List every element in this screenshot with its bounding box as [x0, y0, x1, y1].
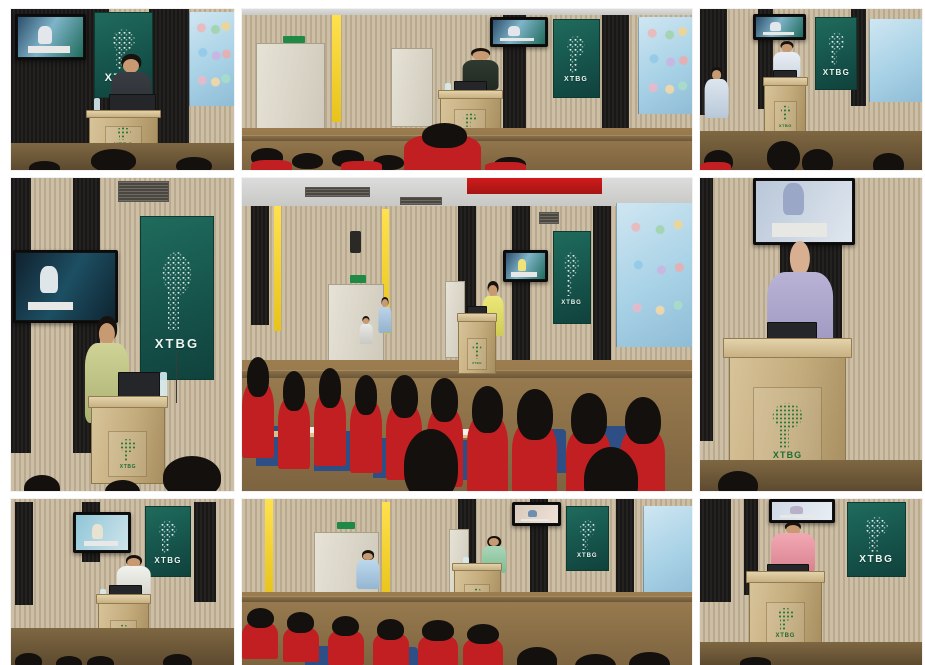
- xtbg-banner: XTBG: [847, 502, 907, 577]
- photo-cell-8[interactable]: XTBG: [242, 499, 692, 665]
- audience-head: [767, 141, 800, 170]
- audience-head: [24, 475, 60, 491]
- auditorium-scene-3: XTBG: [700, 9, 922, 170]
- podium-top: [746, 571, 826, 582]
- wall-monitor: [15, 14, 86, 60]
- auditorium-scene-2: XTBG: [242, 9, 692, 170]
- audience-head: [91, 149, 136, 170]
- collage-page: XTBG: [0, 0, 925, 665]
- audience-head: [422, 620, 454, 641]
- water-bottle: [160, 372, 167, 397]
- xtbg-tree-logo-icon: [561, 249, 582, 296]
- monitor-speaker-figure: [518, 259, 526, 271]
- banner-label: XTBG: [155, 337, 199, 350]
- projection-screen: [869, 19, 922, 103]
- audience-head: [292, 153, 324, 169]
- photo-cell-7[interactable]: XTBG: [11, 499, 234, 665]
- audience-row: [700, 128, 922, 170]
- audience-body: [341, 161, 382, 170]
- audience-head: [802, 149, 833, 170]
- wall-monitor: [503, 250, 548, 282]
- microphone-stand: [176, 353, 177, 403]
- banner-label: XTBG: [577, 553, 598, 559]
- banner-label: XTBG: [859, 555, 893, 565]
- audience-head: [571, 393, 607, 444]
- speaker-head: [123, 59, 139, 73]
- banner-label: XTBG: [154, 557, 181, 565]
- dark-acoustic-panel: [700, 499, 731, 602]
- audience-head: [163, 654, 192, 665]
- wall-monitor: [512, 502, 561, 526]
- yellow-accent-column: [382, 502, 390, 598]
- xtbg-banner: XTBG: [553, 19, 600, 98]
- audience-row: [700, 652, 922, 665]
- photo-grid: XTBG: [11, 9, 914, 657]
- monitor-podium: [511, 272, 536, 276]
- podium: XTBG: [749, 575, 822, 650]
- audience-head: [15, 653, 42, 665]
- speaker-head: [99, 323, 115, 345]
- banner-label: XTBG: [564, 76, 588, 83]
- audience-head: [332, 616, 359, 637]
- audience-head: [575, 654, 616, 665]
- audience-head: [163, 456, 221, 491]
- xtbg-tree-logo-icon: [767, 401, 809, 449]
- audience-head: [87, 656, 114, 665]
- monitor-screen: [756, 181, 852, 242]
- xtbg-banner: XTBG: [566, 506, 609, 571]
- monitor-podium: [763, 32, 794, 35]
- wall-monitor: [769, 499, 835, 523]
- audience-head: [283, 371, 306, 411]
- dark-acoustic-panel: [251, 206, 269, 325]
- audience-head: [472, 386, 504, 433]
- red-ceiling-banner: [467, 178, 602, 194]
- ceiling-speaker: [350, 231, 361, 253]
- projection-screen: [638, 17, 692, 114]
- photo-cell-4[interactable]: XTBG: [11, 178, 234, 491]
- ceiling-vent: [539, 212, 559, 223]
- audience-head: [355, 375, 378, 415]
- dark-acoustic-panel: [194, 502, 216, 602]
- audience-head: [873, 153, 904, 170]
- auditorium-scene-4: XTBG: [11, 178, 234, 491]
- monitor-podium: [28, 302, 73, 310]
- podium-top: [96, 594, 151, 604]
- auditorium-scene-8: XTBG: [242, 499, 692, 665]
- photo-cell-5[interactable]: XTBG: [242, 178, 692, 491]
- monitor-screen: [506, 253, 545, 279]
- exit-sign: [283, 36, 306, 42]
- audience-head: [422, 123, 467, 148]
- audience-rows: [242, 585, 692, 665]
- podium-top: [763, 77, 808, 86]
- monitor-speaker-figure: [92, 524, 103, 539]
- dark-acoustic-panel: [602, 15, 629, 131]
- audience-body: [700, 162, 731, 170]
- xtbg-tree-logo-icon: [825, 30, 848, 67]
- xtbg-tree-logo-icon: [576, 518, 599, 551]
- xtbg-banner: XTBG: [815, 17, 857, 90]
- presenter-head: [489, 538, 499, 546]
- podium-top: [452, 563, 502, 571]
- ceiling-vent: [400, 197, 443, 205]
- audience-head: [56, 656, 83, 665]
- monitor-speaker-figure: [790, 506, 803, 514]
- photo-cell-1[interactable]: XTBG: [11, 9, 234, 170]
- yellow-accent-column: [265, 499, 273, 595]
- auditorium-scene-5: XTBG: [242, 178, 692, 491]
- xtbg-tree-logo-icon: [563, 33, 589, 73]
- student-torso: [356, 560, 379, 589]
- audience-head: [629, 652, 670, 665]
- audience-head: [517, 389, 553, 440]
- banner-label: XTBG: [561, 300, 582, 306]
- monitor-podium: [521, 519, 549, 522]
- dark-acoustic-panel: [15, 502, 33, 605]
- wall-monitor: [13, 250, 117, 323]
- monitor-screen: [756, 17, 803, 38]
- monitor-screen: [493, 20, 545, 44]
- podium-label: XTBG: [776, 633, 796, 639]
- monitor-speaker-figure: [783, 183, 804, 215]
- audience-head: [29, 161, 60, 170]
- monitor-speaker-figure: [40, 266, 58, 293]
- auditorium-scene-7: XTBG: [11, 499, 234, 665]
- wall-monitor: [490, 17, 548, 47]
- monitor-podium: [84, 541, 118, 547]
- audience-body: [485, 162, 526, 170]
- presenter-head: [488, 285, 497, 296]
- audience-head: [625, 397, 661, 444]
- projector-app-icons: [194, 18, 231, 100]
- audience-head: [287, 612, 314, 633]
- monitor-speaker-figure: [528, 510, 537, 518]
- xtbg-tree-logo-icon: [860, 514, 893, 552]
- standing-assistant: [702, 67, 731, 135]
- audience-head: [431, 378, 458, 422]
- yellow-accent-column: [332, 15, 341, 121]
- xtbg-tree-logo-icon: [156, 246, 197, 331]
- podium-top: [86, 110, 161, 118]
- monitor-screen: [18, 17, 83, 57]
- audience-head: [391, 375, 418, 419]
- monitor-podium: [28, 46, 71, 52]
- projection-screen: [189, 12, 234, 105]
- exit-sign: [350, 275, 366, 283]
- audience-head: [377, 619, 404, 640]
- podium-top: [438, 90, 504, 98]
- photo-cell-6[interactable]: XTBG: [700, 178, 922, 491]
- monitor-speaker-figure: [508, 26, 519, 36]
- podium-top: [723, 338, 852, 358]
- monitor-speaker-figure: [770, 22, 780, 31]
- banner-label: XTBG: [823, 69, 850, 77]
- photo-cell-3[interactable]: XTBG: [700, 9, 922, 170]
- dark-acoustic-panel: [700, 178, 713, 441]
- audience-head: [319, 368, 342, 408]
- xtbg-tree-logo-icon: [113, 127, 135, 140]
- monitor-screen: [76, 515, 128, 550]
- podium-top: [88, 396, 168, 409]
- monitor-screen: [16, 253, 114, 320]
- auditorium-scene-9: XTBG: [700, 499, 922, 665]
- exit-sign: [337, 522, 355, 529]
- auditorium-scene-6: XTBG: [700, 178, 922, 491]
- audience-row: [700, 463, 922, 491]
- audience-head: [176, 157, 212, 170]
- photo-cell-9[interactable]: XTBG: [700, 499, 922, 665]
- monitor-screen: [772, 502, 832, 520]
- monitor-screen: [515, 505, 558, 523]
- audience-row: [11, 642, 234, 665]
- audience-head: [247, 608, 274, 629]
- monitor-speaker-figure: [38, 26, 52, 44]
- wall-monitor: [753, 178, 855, 245]
- audience-seating: [242, 309, 692, 491]
- audience-rows: [242, 115, 692, 170]
- xtbg-tree-logo-icon: [774, 607, 797, 629]
- auditorium-scene-1: XTBG: [11, 9, 234, 170]
- audience-head: [247, 357, 270, 397]
- audience-head: [517, 647, 558, 665]
- monitor-podium: [780, 515, 820, 518]
- wall-monitor: [73, 512, 131, 553]
- monitor-podium: [500, 38, 534, 42]
- monitor-podium: [772, 223, 827, 236]
- audience-row: [11, 447, 234, 491]
- student-head: [382, 299, 388, 306]
- audience-head: [404, 429, 458, 491]
- audience-head: [740, 657, 771, 665]
- wall-monitor: [753, 14, 806, 41]
- ceiling-vent: [305, 187, 370, 197]
- audience-body: [251, 160, 292, 170]
- podium-plaque: XTBG: [766, 602, 805, 643]
- photo-cell-2[interactable]: XTBG: [242, 9, 692, 170]
- audience-head: [467, 624, 499, 645]
- audience-row: [11, 141, 234, 170]
- xtbg-tree-logo-icon: [779, 105, 792, 122]
- projector-app-icons: [643, 23, 688, 108]
- assistant-torso: [704, 79, 729, 118]
- audience-head: [718, 471, 758, 491]
- ceiling-vent: [118, 181, 169, 202]
- xtbg-tree-logo-icon: [155, 518, 181, 554]
- audience-head: [105, 480, 141, 491]
